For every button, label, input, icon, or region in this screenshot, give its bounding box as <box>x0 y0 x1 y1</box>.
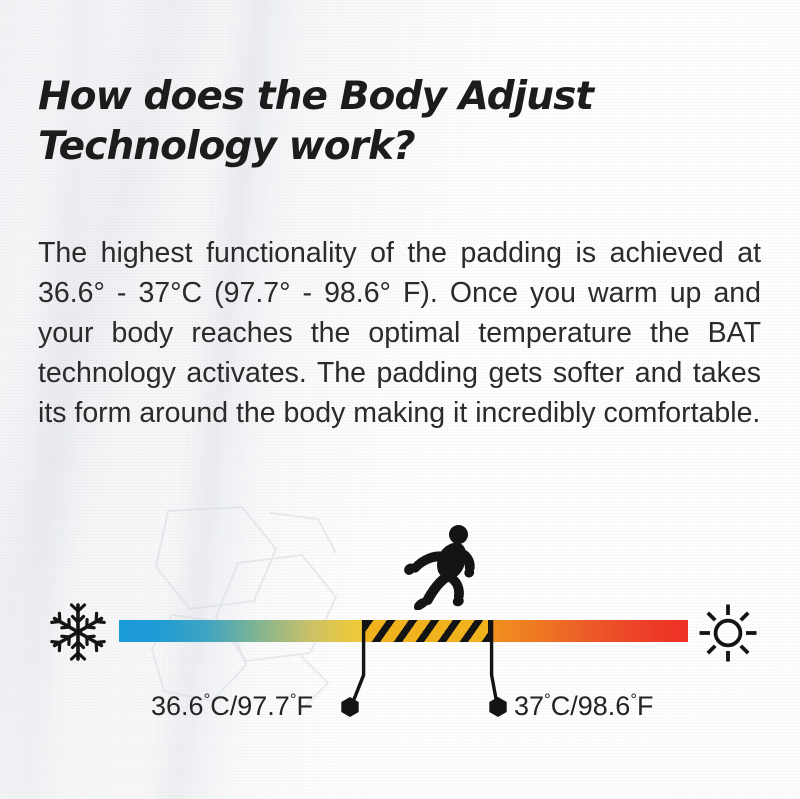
scale-hot-segment <box>491 620 688 642</box>
page-title-line-2: Technology work? <box>38 122 738 172</box>
upper-bound-celsius-value: 37 <box>514 691 544 721</box>
lower-bound-label: 36.6°C/97.7°F <box>151 691 313 721</box>
upper-bound-fahrenheit-unit: F <box>637 691 654 721</box>
page-title-line-1: How does the Body Adjust <box>38 72 738 122</box>
body-paragraph: The highest functionality of the padding… <box>38 233 761 433</box>
scale-optimal-zone-segment <box>362 620 491 642</box>
infographic-canvas: How does the Body Adjust Technology work… <box>0 0 800 799</box>
lower-bound-fahrenheit-value: /97.7 <box>230 691 290 721</box>
snowflake-icon <box>47 601 109 663</box>
lower-bound-celsius-unit: C <box>210 691 230 721</box>
upper-bound-celsius-unit: C <box>551 691 571 721</box>
temperature-gradient-bar <box>119 620 688 642</box>
sun-icon <box>697 602 759 664</box>
scale-cold-segment <box>119 620 362 642</box>
degree-symbol-icon: ° <box>630 690 637 709</box>
degree-symbol-icon: ° <box>290 690 297 709</box>
lower-bound-fahrenheit-unit: F <box>297 691 314 721</box>
upper-bound-label: 37°C/98.6°F <box>514 691 654 721</box>
temperature-scale <box>0 596 800 666</box>
degree-symbol-icon: ° <box>544 690 551 709</box>
upper-bound-fahrenheit-value: /98.6 <box>570 691 630 721</box>
page-title: How does the Body Adjust Technology work… <box>38 72 738 172</box>
lower-bound-celsius-value: 36.6 <box>151 691 204 721</box>
